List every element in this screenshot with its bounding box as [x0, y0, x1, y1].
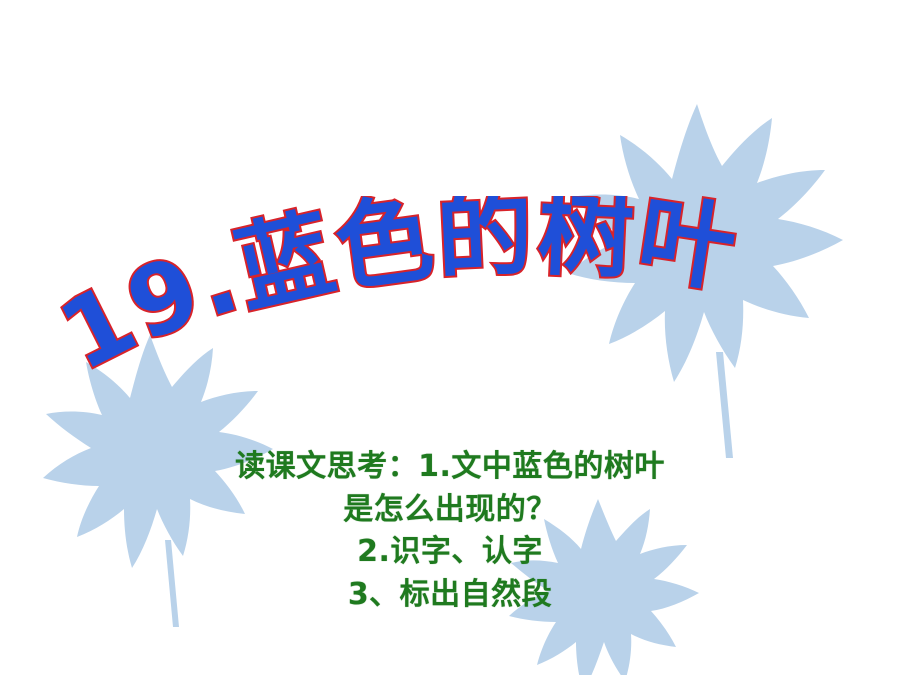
title-wordart: 19.蓝色的树叶 [40, 196, 860, 416]
subtitle-line-4: 3、标出自然段 [0, 574, 900, 617]
svg-text:19.蓝色的树叶: 19.蓝色的树叶 [43, 196, 745, 393]
subtitle-line-3: 2.识字、认字 [0, 531, 900, 574]
slide-title: 19.蓝色的树叶 [0, 196, 900, 416]
subtitle-line-1: 读课文思考：1.文中蓝色的树叶 [0, 446, 900, 489]
subtitle-block: 读课文思考：1.文中蓝色的树叶 是怎么出现的？ 2.识字、认字 3、标出自然段 [0, 446, 900, 616]
subtitle-line-2: 是怎么出现的？ [0, 489, 900, 532]
presentation-slide: 19.蓝色的树叶 读课文思考：1.文中蓝色的树叶 是怎么出现的？ 2.识字、认字… [0, 0, 900, 675]
title-wordart-text: 19.蓝色的树叶 [43, 196, 745, 393]
